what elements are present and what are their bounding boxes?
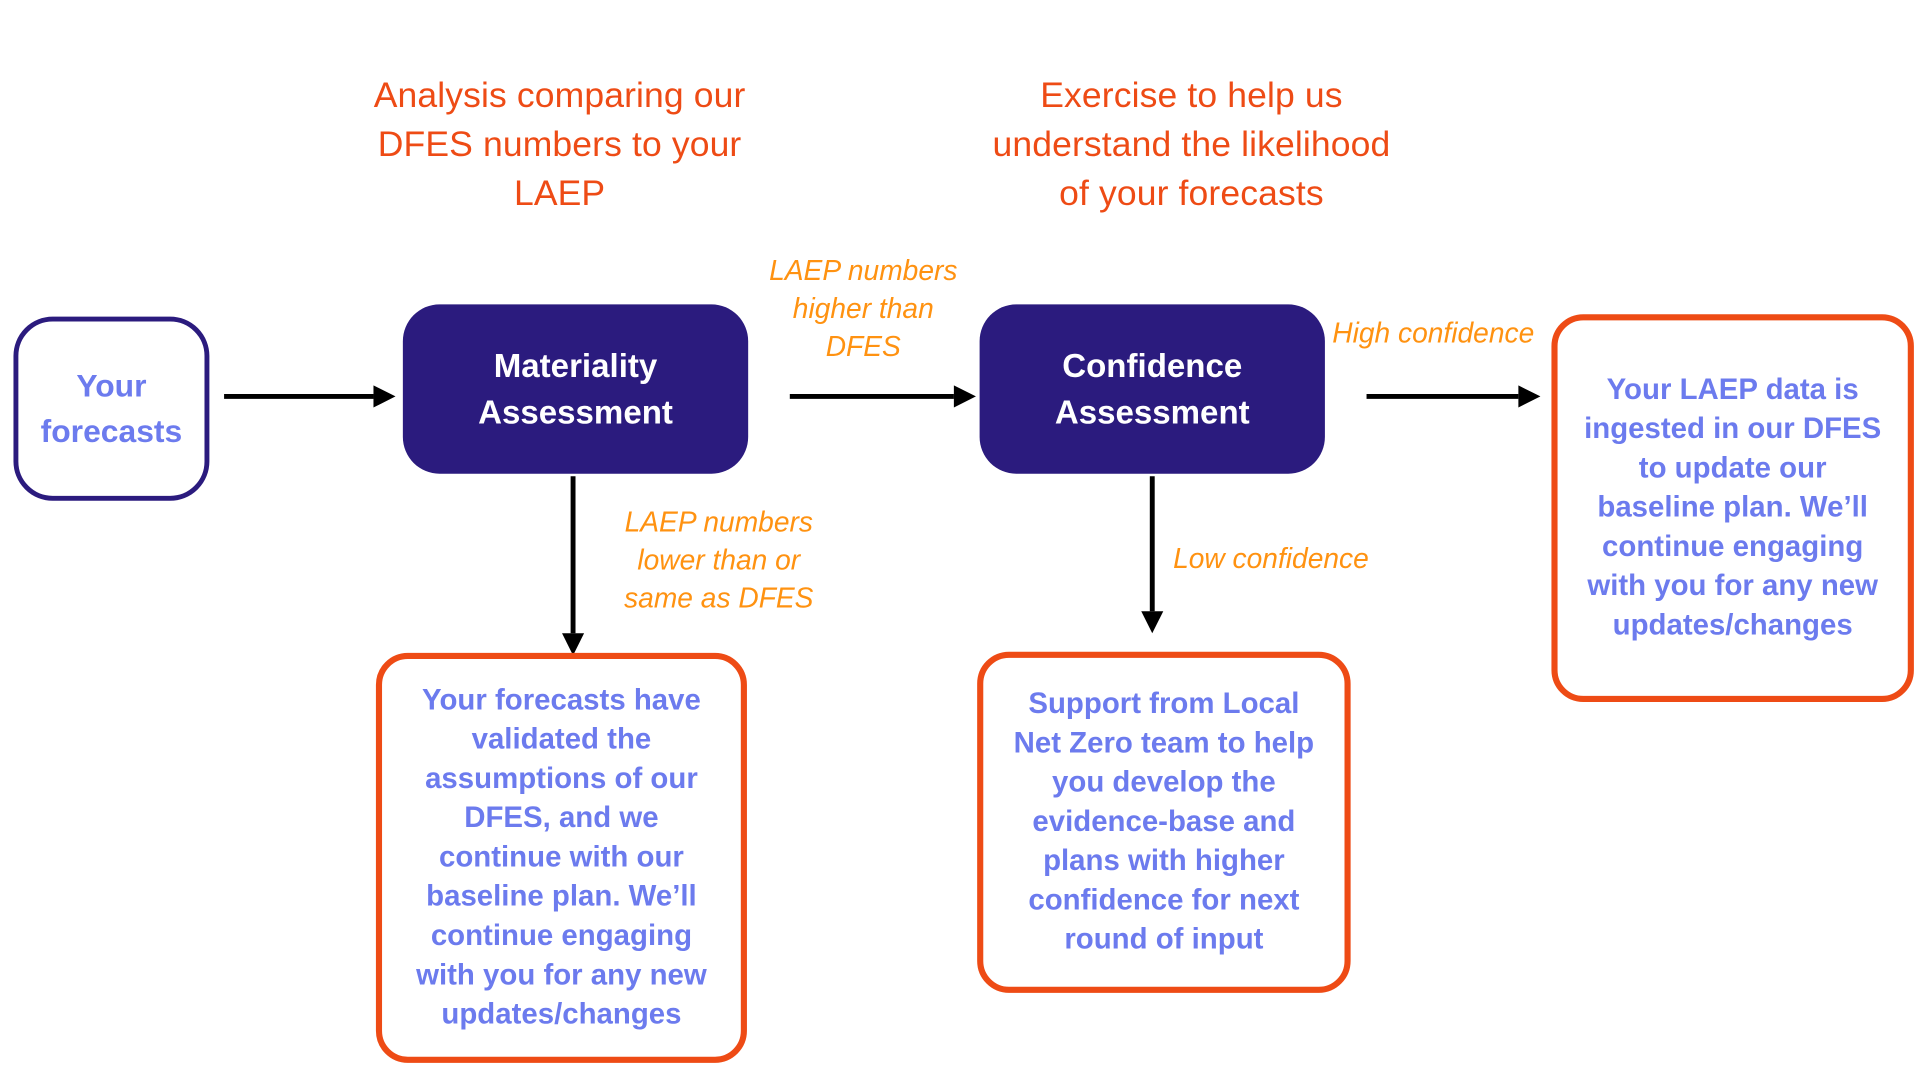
arrow-materiality-to-validated [560, 476, 587, 655]
materiality-column-header: Analysis comparing our DFES numbers to y… [358, 71, 762, 218]
outcome-laep-data-ingested[interactable]: Your LAEP data is ingested in our DFES t… [1551, 314, 1913, 702]
arrow-confidence-to-ingested [1367, 383, 1541, 410]
edge-label-high-confidence: High confidence [1332, 314, 1552, 352]
confidence-column-header: Exercise to help us understand the likel… [980, 71, 1404, 218]
edge-label-low-confidence: Low confidence [1173, 540, 1393, 578]
node-your-forecasts[interactable]: Your forecasts [13, 317, 209, 501]
edge-label-laep-lower: LAEP numbers lower than or same as DFES [617, 503, 820, 617]
node-materiality-assessment[interactable]: Materiality Assessment [403, 304, 748, 473]
outcome-local-net-zero-support[interactable]: Support from Local Net Zero team to help… [977, 652, 1350, 993]
edge-label-laep-higher: LAEP numbers higher than DFES [767, 252, 960, 366]
arrow-materiality-to-confidence [790, 383, 976, 410]
arrow-confidence-to-support [1139, 476, 1166, 633]
outcome-forecasts-validated[interactable]: Your forecasts have validated the assump… [376, 653, 747, 1063]
flowchart-canvas: Analysis comparing our DFES numbers to y… [0, 0, 1920, 1080]
arrow-start-to-materiality [224, 383, 395, 410]
node-confidence-assessment[interactable]: Confidence Assessment [980, 304, 1325, 473]
